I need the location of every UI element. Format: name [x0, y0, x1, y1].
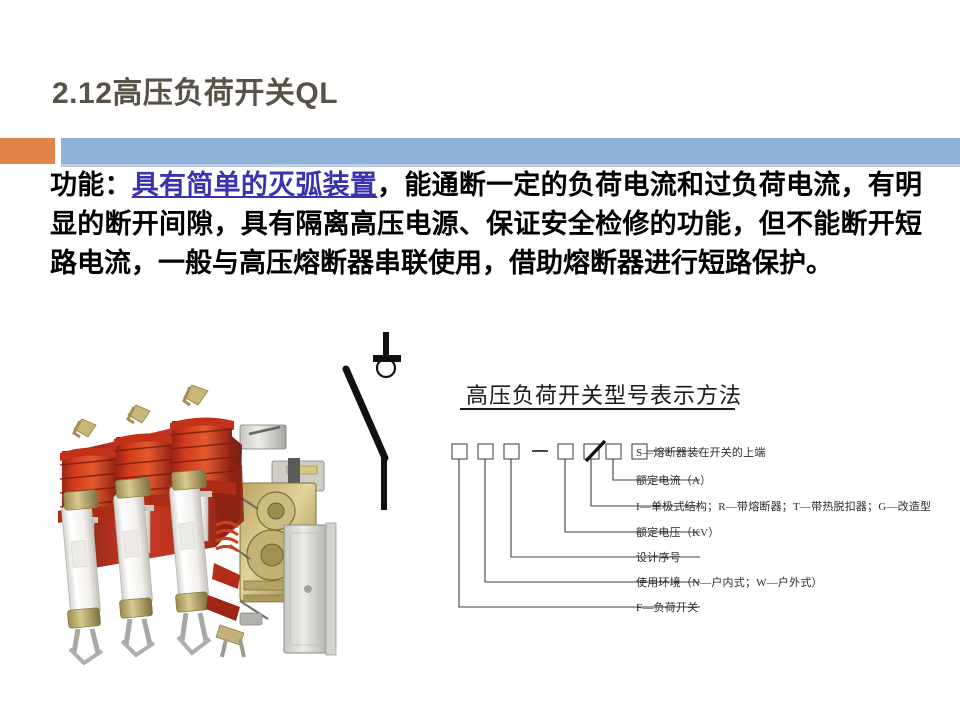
designation-title: 高压负荷开关型号表示方法	[466, 378, 742, 410]
symbol-blade	[346, 369, 385, 458]
symbol-lower-stem	[381, 454, 387, 510]
code-box-4	[558, 444, 573, 459]
title-suffix: QL	[295, 77, 338, 110]
body-highlight: 具有简单的灭弧装置	[132, 170, 377, 201]
code-box-3	[504, 444, 519, 459]
title-main: 高压负荷开关	[112, 77, 295, 110]
lower-terminals	[216, 625, 244, 657]
accent-bar-orange	[0, 138, 55, 164]
designation-diagram	[448, 440, 948, 620]
accent-bar-blue	[61, 138, 960, 164]
body-paragraph: 功能：具有简单的灭弧装置，能通断一定的负荷电流和过负荷电流，有明显的断开间隙，具…	[50, 166, 922, 283]
load-switch-photo	[44, 333, 354, 671]
title-number: 2.12	[52, 77, 112, 110]
body-label: 功能：	[50, 170, 132, 201]
designation-title-underline	[460, 408, 735, 410]
slide-canvas: 2.12高压负荷开关QL 功能：具有简单的灭弧装置，能通断一定的负荷电流和过负荷…	[0, 0, 960, 720]
operating-mechanism	[230, 425, 336, 655]
load-switch-circuit-symbol	[340, 330, 460, 520]
code-box-7	[632, 444, 647, 459]
page-title: 2.12高压负荷开关QL	[52, 68, 338, 112]
code-box-2	[478, 444, 493, 459]
code-box-6	[606, 444, 621, 459]
symbol-upper-stem	[383, 332, 389, 358]
code-box-1	[452, 444, 467, 459]
